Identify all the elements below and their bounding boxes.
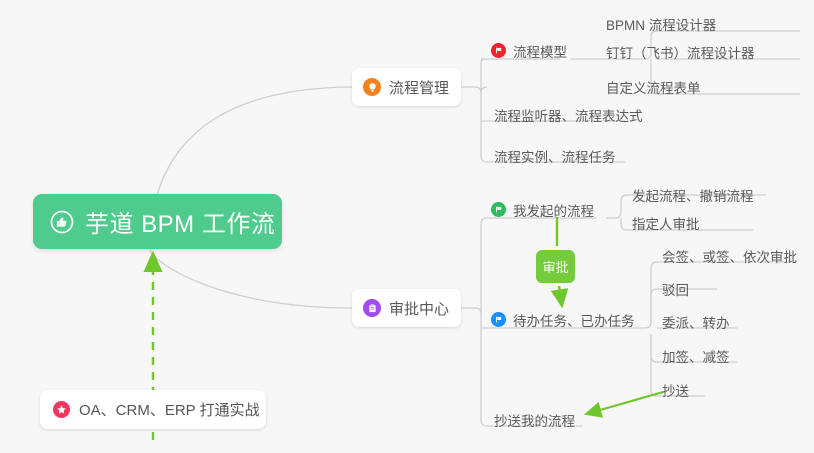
mindmap-canvas: 芋道 BPM 工作流 流程管理: [0, 0, 814, 453]
leaf-label: 待办任务、已办任务: [513, 314, 635, 329]
leaf-label: 我发起的流程: [513, 204, 594, 219]
integration-note-card[interactable]: OA、CRM、ERP 打通实战: [40, 390, 266, 429]
leaf-add-remove-sign[interactable]: 加签、减签: [656, 351, 736, 370]
leaf-reject[interactable]: 驳回: [656, 284, 695, 303]
leaf-label: 流程模型: [513, 45, 567, 60]
thumbs-up-icon: [50, 210, 74, 234]
leaf-label: 驳回: [662, 283, 689, 298]
approval-pill-label: 审批: [542, 257, 568, 276]
lightbulb-icon: [363, 78, 381, 96]
leaf-label: 指定人审批: [632, 217, 700, 232]
clipboard-icon: [363, 299, 381, 317]
branch-node-flow-management[interactable]: 流程管理: [352, 68, 461, 106]
root-node[interactable]: 芋道 BPM 工作流: [33, 194, 282, 249]
leaf-assignee-approval[interactable]: 指定人审批: [626, 218, 706, 237]
leaf-dingtalk-designer[interactable]: 钉钉（飞书）流程设计器: [600, 47, 761, 66]
leaf-label: 自定义流程表单: [606, 81, 701, 96]
leaf-label: 流程实例、流程任务: [494, 150, 616, 165]
branch-node-approval-center[interactable]: 审批中心: [352, 289, 461, 327]
leaf-countersign[interactable]: 会签、或签、依次审批: [656, 251, 803, 270]
leaf-todo-done-tasks[interactable]: 待办任务、已办任务: [488, 315, 641, 334]
branch-label: 流程管理: [389, 77, 449, 98]
integration-note-label: OA、CRM、ERP 打通实战: [79, 399, 260, 420]
leaf-label: 流程监听器、流程表达式: [494, 109, 643, 124]
flag-blue-icon: [491, 312, 506, 327]
leaf-label: 抄送: [662, 384, 689, 399]
leaf-delegate-transfer[interactable]: 委派、转办: [656, 317, 736, 336]
leaf-label: 加签、减签: [662, 350, 730, 365]
star-icon: [53, 401, 70, 418]
root-label: 芋道 BPM 工作流: [85, 204, 275, 239]
leaf-bpmn-designer[interactable]: BPMN 流程设计器: [600, 19, 722, 38]
leaf-label: 抄送我的流程: [494, 414, 575, 429]
leaf-label: BPMN 流程设计器: [606, 18, 716, 33]
leaf-label: 钉钉（飞书）流程设计器: [606, 46, 755, 61]
leaf-process-listener[interactable]: 流程监听器、流程表达式: [488, 110, 649, 129]
flag-red-icon: [491, 43, 506, 58]
branch-label: 审批中心: [389, 298, 449, 319]
leaf-start-cancel-process[interactable]: 发起流程、撤销流程: [626, 190, 760, 209]
leaf-cc[interactable]: 抄送: [656, 385, 695, 404]
approval-annotation-pill: 审批: [536, 250, 575, 283]
leaf-label: 委派、转办: [662, 316, 730, 331]
leaf-process-instance[interactable]: 流程实例、流程任务: [488, 151, 622, 170]
leaf-my-initiated[interactable]: 我发起的流程: [488, 205, 600, 224]
flag-green-icon: [491, 202, 506, 217]
leaf-label: 会签、或签、依次审批: [662, 250, 797, 265]
leaf-custom-form[interactable]: 自定义流程表单: [600, 82, 707, 101]
leaf-label: 发起流程、撤销流程: [632, 189, 754, 204]
leaf-process-model[interactable]: 流程模型: [488, 46, 573, 65]
leaf-cc-to-me[interactable]: 抄送我的流程: [488, 415, 581, 434]
